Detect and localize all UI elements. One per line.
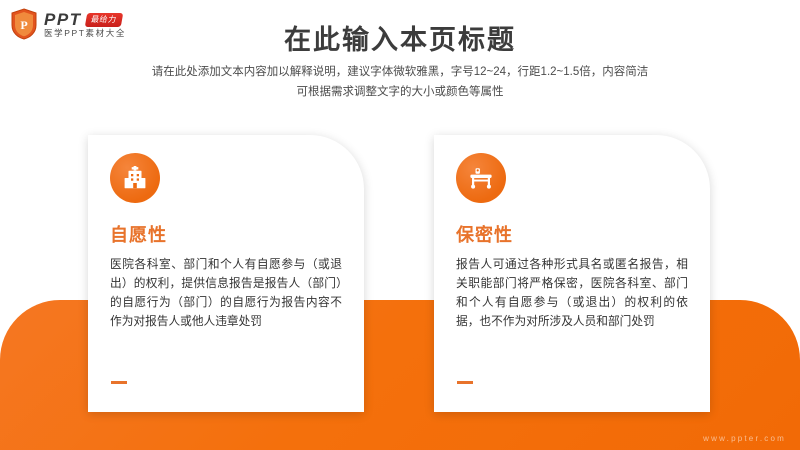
card-divider-dash (111, 381, 127, 384)
card-body-text: 医院各科室、部门和个人有自愿参与（或退出）的权利，提供信息报告是报告人（部门）的… (110, 256, 342, 332)
hospital-building-icon (110, 153, 160, 203)
subtitle-line-1: 请在此处添加文本内容加以解释说明，建议字体微软雅黑，字号12~24，行距1.2~… (0, 62, 800, 82)
page-title: 在此输入本页标题 (0, 18, 800, 57)
card-title: 自愿性 (110, 221, 342, 247)
page-subtitle: 请在此处添加文本内容加以解释说明，建议字体微软雅黑，字号12~24，行距1.2~… (0, 62, 800, 102)
card-body-text: 报告人可通过各种形式具名或匿名报告，相关职能部门将严格保密，医院各科室、部门和个… (456, 256, 688, 332)
hospital-stretcher-icon (456, 153, 506, 203)
content-card-voluntary[interactable]: 自愿性 医院各科室、部门和个人有自愿参与（或退出）的权利，提供信息报告是报告人（… (88, 135, 364, 412)
card-title: 保密性 (456, 221, 688, 247)
content-card-confidentiality[interactable]: 保密性 报告人可通过各种形式具名或匿名报告，相关职能部门将严格保密，医院各科室、… (434, 135, 710, 412)
subtitle-line-2: 可根据需求调整文字的大小或颜色等属性 (0, 82, 800, 102)
site-watermark: www.ppter.com (703, 434, 786, 443)
card-divider-dash (457, 381, 473, 384)
